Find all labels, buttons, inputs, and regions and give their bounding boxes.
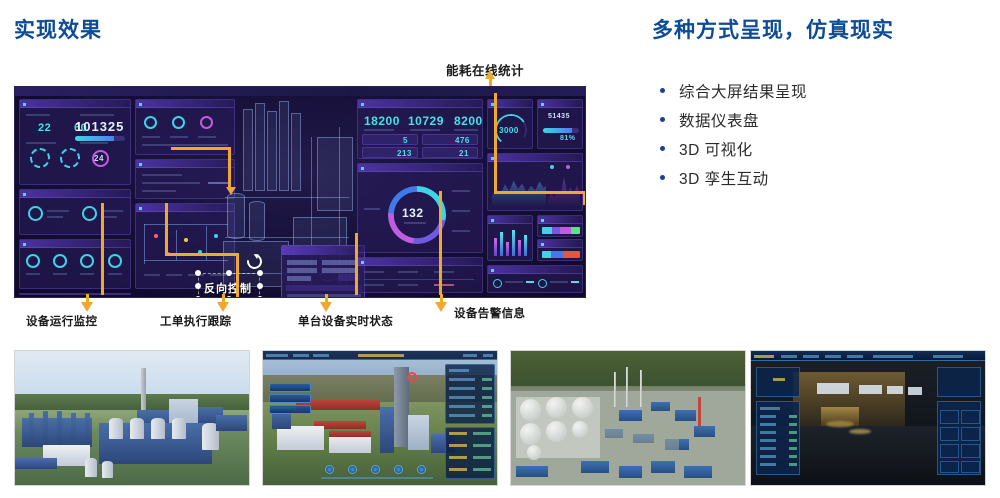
kpi-chip: 476	[422, 134, 478, 145]
gallery-image-aerial-refinery	[510, 350, 746, 486]
twin-toolbar-icon[interactable]	[325, 465, 334, 474]
scene-preview-panel	[756, 367, 800, 397]
panel-header	[358, 164, 482, 172]
gauge-value: 3000	[499, 126, 519, 135]
feature-list: 综合大屏结果呈现 数据仪表盘 3D 可视化 3D 孪生互动	[652, 76, 982, 192]
gallery-strip	[14, 350, 986, 486]
camera-cell[interactable]	[961, 444, 980, 458]
panel-stack-1	[537, 215, 583, 237]
connector-line	[165, 203, 168, 255]
kpi-value-1: 18200	[364, 114, 400, 128]
kpi-value-3: 8200	[454, 114, 483, 128]
twin-toolbar-icon[interactable]	[348, 465, 357, 474]
page-title-right: 多种方式呈现，仿真现实	[652, 14, 894, 44]
panel-header	[488, 216, 532, 224]
panel-device-group-1	[19, 189, 131, 235]
gallery-image-indoor-3d-scene	[750, 350, 986, 486]
ring-gauge-b	[60, 148, 80, 168]
control-icon	[200, 116, 213, 129]
panel-header	[358, 258, 482, 266]
list-item-label: 综合大屏结果呈现	[679, 80, 807, 102]
kpi-pressure: 101325	[75, 119, 124, 134]
scene-map-panel	[937, 367, 981, 397]
device-icon	[80, 254, 94, 268]
panel-header	[136, 204, 234, 212]
bullet-dot-icon	[660, 146, 665, 151]
list-item-label: 3D 可视化	[679, 138, 753, 160]
panel-header	[488, 266, 582, 274]
device-info-popup[interactable]	[281, 245, 365, 298]
list-item: 3D 孪生互动	[652, 163, 982, 192]
status-icon	[538, 279, 547, 288]
camera-cell[interactable]	[961, 427, 980, 441]
kpi-chip: 5	[362, 134, 418, 145]
callout-label-equipment-monitoring: 设备运行监控	[26, 313, 97, 329]
panel-trend-area	[487, 153, 583, 211]
panel-controls-mid	[135, 159, 235, 199]
twin-header-bar[interactable]	[263, 351, 497, 360]
twin-menu-item[interactable]	[269, 405, 311, 414]
connector-line	[171, 147, 231, 150]
twin-toolbar-icon[interactable]	[417, 465, 426, 474]
panel-header	[136, 160, 234, 168]
panel-environment: 22 60 24	[19, 99, 131, 185]
area-chart-2	[548, 170, 580, 206]
connector-line	[228, 147, 231, 189]
callout-arrow-icon	[81, 302, 93, 312]
twin-metric-grid	[445, 427, 495, 479]
panel-header	[538, 216, 582, 224]
scene-nav-bar[interactable]	[751, 351, 985, 361]
device-icon	[28, 206, 43, 221]
kpi-small-2: 476	[455, 136, 470, 145]
connector-line	[494, 93, 497, 193]
connector-line	[236, 253, 239, 297]
ring-gauge-a	[30, 148, 50, 168]
progress-value: 81%	[560, 135, 576, 142]
camera-cell[interactable]	[940, 444, 959, 458]
resize-handle[interactable]	[226, 270, 232, 276]
camera-cell[interactable]	[940, 427, 959, 441]
kpi-small-1: 5	[403, 136, 408, 145]
panel-header	[20, 240, 130, 248]
list-item-label: 3D 孪生互动	[679, 167, 769, 189]
twin-toolbar-icon[interactable]	[371, 465, 380, 474]
panel-header	[20, 190, 130, 198]
callout-label-work-order-tracking: 工单执行跟踪	[160, 313, 231, 329]
panel-progress: 51435 81%	[537, 99, 583, 149]
callout-arrow-icon	[435, 302, 447, 312]
camera-cell[interactable]	[940, 410, 959, 424]
connector-line	[355, 233, 358, 295]
list-item: 综合大屏结果呈现	[652, 76, 982, 105]
slide-page: 实现效果 多种方式呈现，仿真现实 综合大屏结果呈现 数据仪表盘 3D 可视化 3…	[0, 0, 1000, 498]
kpi-chip: 213	[362, 147, 418, 158]
page-title-left: 实现效果	[14, 14, 102, 44]
callout-arrow-icon	[320, 302, 332, 312]
panel-header	[488, 154, 582, 162]
panel-kpi-summary: 18200 10729 8200 5 476 213 21	[357, 99, 483, 159]
scene-camera-grid	[937, 401, 981, 475]
list-item-label: 数据仪表盘	[679, 109, 759, 131]
list-item: 3D 可视化	[652, 134, 982, 163]
kpi-small-3: 213	[397, 149, 412, 158]
control-icon	[144, 116, 157, 129]
donut-center-value: 132	[402, 206, 424, 220]
device-icon	[82, 206, 97, 221]
panel-distribution-donut: 132	[357, 163, 483, 253]
panel-device-group-2	[19, 239, 131, 289]
camera-cell[interactable]	[940, 461, 959, 473]
resize-handle[interactable]	[226, 296, 232, 298]
dashboard-screenshot: 22 60 24	[14, 86, 586, 298]
twin-toolbar-icon[interactable]	[394, 465, 403, 474]
resize-handle[interactable]	[257, 270, 263, 276]
connector-line	[494, 191, 586, 194]
area-chart-1	[492, 170, 546, 206]
panel-bar-chart	[487, 215, 533, 261]
kpi-chip: 21	[422, 147, 478, 158]
resize-handle[interactable]	[195, 283, 201, 289]
device-icon	[108, 254, 122, 268]
progress-bar	[543, 128, 579, 133]
stacked-bar	[542, 251, 580, 258]
panel-header	[136, 100, 234, 108]
progress-secondary-value: 51435	[548, 113, 570, 120]
twin-menu-item[interactable]	[269, 383, 311, 392]
callout-label-device-alarm-info: 设备告警信息	[454, 305, 525, 321]
twin-menu-item[interactable]	[269, 394, 311, 403]
device-icon	[53, 254, 67, 268]
device-icon	[26, 254, 40, 268]
stacked-bar	[542, 227, 580, 234]
camera-cell[interactable]	[961, 461, 980, 473]
kpi-count-a: 24	[94, 154, 104, 163]
camera-cell[interactable]	[961, 410, 980, 424]
panel-stack-2	[537, 239, 583, 261]
popup-header	[282, 246, 364, 255]
kpi-temperature: 22	[38, 122, 51, 134]
connector-line	[165, 253, 239, 256]
status-icon	[493, 279, 502, 288]
connector-line	[101, 203, 104, 295]
gallery-image-3d-plant-render	[14, 350, 250, 486]
panel-header	[358, 100, 482, 108]
gallery-image-digital-twin-cement-plant	[262, 350, 498, 486]
kpi-value-2: 10729	[408, 114, 444, 128]
control-icon	[172, 116, 185, 129]
bullet-dot-icon	[660, 88, 665, 93]
panel-data-table	[357, 257, 483, 293]
twin-right-panel	[445, 364, 495, 424]
overlay-label-reverse-control: 反向控制	[204, 280, 252, 296]
resize-handle[interactable]	[257, 283, 263, 289]
list-item: 数据仪表盘	[652, 105, 982, 134]
resize-handle[interactable]	[195, 270, 201, 276]
callout-label-device-realtime-status: 单台设备实时状态	[298, 313, 393, 329]
bullet-dot-icon	[660, 175, 665, 180]
pressure-progress	[75, 136, 125, 141]
connector-arrow-icon	[226, 187, 236, 195]
kpi-small-4: 21	[459, 149, 469, 158]
connector-line	[439, 191, 442, 295]
bullet-dot-icon	[660, 117, 665, 122]
connector-line	[583, 191, 586, 205]
scene-list-panel	[756, 401, 800, 475]
panel-header	[20, 100, 130, 108]
panel-device-status-list	[487, 265, 583, 293]
dashboard-titlebar	[15, 87, 585, 96]
resize-handle[interactable]	[195, 296, 201, 298]
callout-arrow-icon	[217, 302, 229, 312]
panel-header	[538, 100, 582, 108]
panel-header	[538, 240, 582, 248]
panel-divider	[19, 293, 131, 295]
resize-handle[interactable]	[257, 296, 263, 298]
